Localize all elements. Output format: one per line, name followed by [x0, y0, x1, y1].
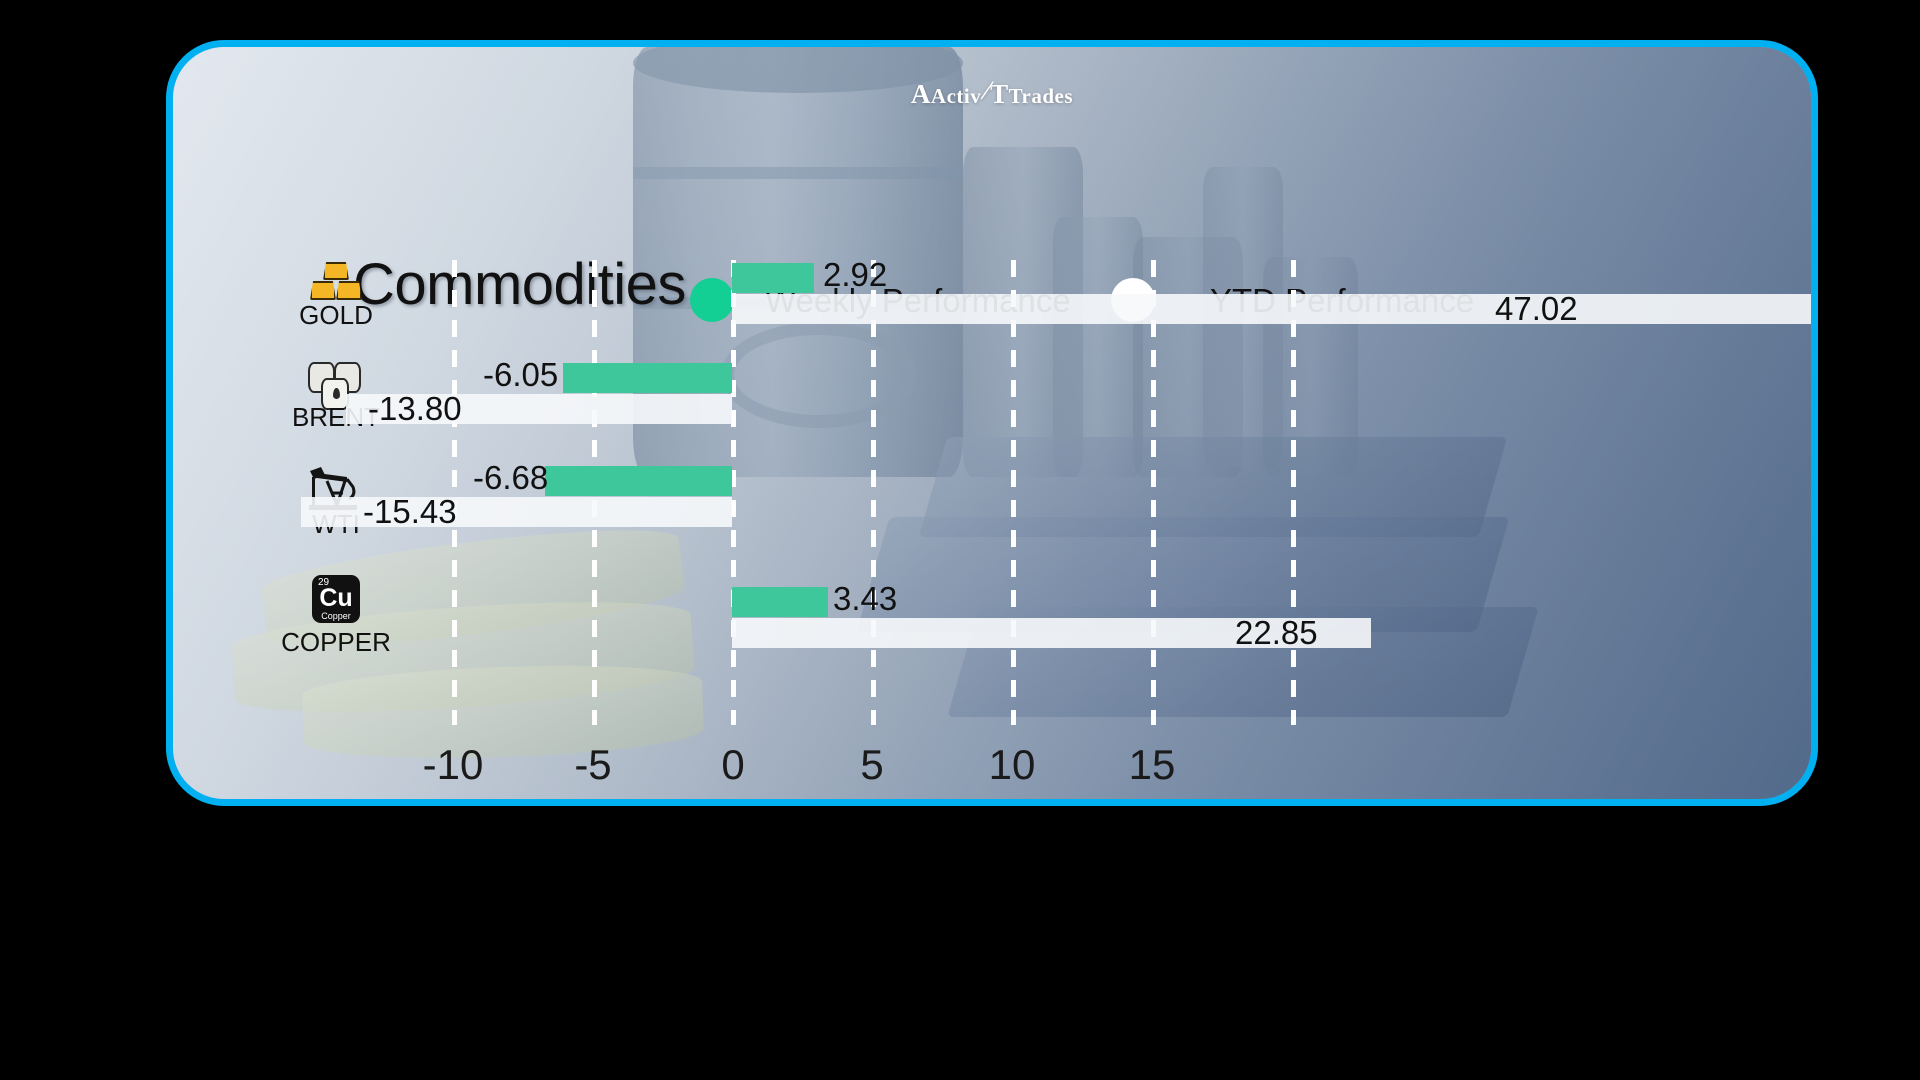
- bar-ytd-gold[interactable]: [732, 294, 1818, 324]
- xtick-label: 15: [1129, 741, 1176, 789]
- bar-value-ytd-copper: 22.85: [1235, 614, 1318, 652]
- bar-weekly-gold[interactable]: [732, 263, 814, 293]
- gold-bars-icon: [310, 262, 362, 302]
- xtick-label: 0: [721, 741, 744, 789]
- gridline: [1011, 260, 1016, 725]
- copper-element-icon: 29 Cu Copper: [312, 575, 360, 623]
- bar-value-ytd-wti: -15.43: [363, 493, 457, 531]
- bar-value-weekly-copper: 3.43: [833, 580, 897, 618]
- xtick-label: 5: [860, 741, 883, 789]
- gridline: [1151, 260, 1156, 725]
- bar-value-ytd-brent: -13.80: [368, 390, 462, 428]
- screenshot-root: AActiv/TTrades Commodities Weekly Perfor…: [0, 0, 1920, 1080]
- xtick-label: -5: [574, 741, 611, 789]
- chart-plot-area: -10 -5 0 5 10 15 % Performance GOLD 2.92…: [173, 47, 1818, 806]
- x-axis-title: % Performance: [173, 795, 1743, 806]
- bar-value-weekly-gold: 2.92: [823, 256, 887, 294]
- bar-weekly-wti[interactable]: [545, 466, 732, 496]
- bar-value-weekly-brent: -6.05: [483, 356, 558, 394]
- gridline: [871, 260, 876, 725]
- copper-name: Copper: [312, 611, 360, 621]
- xtick-label: -10: [423, 741, 484, 789]
- copper-symbol: Cu: [312, 584, 360, 613]
- row-label-gold: GOLD: [299, 300, 373, 331]
- row-label-copper: COPPER: [281, 627, 391, 658]
- bar-value-ytd-gold: 47.02: [1495, 290, 1578, 328]
- xtick-label: 10: [989, 741, 1036, 789]
- commodities-infographic-card: AActiv/TTrades Commodities Weekly Perfor…: [166, 40, 1818, 806]
- gridline: [1291, 260, 1296, 725]
- bar-weekly-brent[interactable]: [563, 363, 732, 393]
- bar-value-weekly-wti: -6.68: [473, 459, 548, 497]
- bar-weekly-copper[interactable]: [732, 587, 828, 617]
